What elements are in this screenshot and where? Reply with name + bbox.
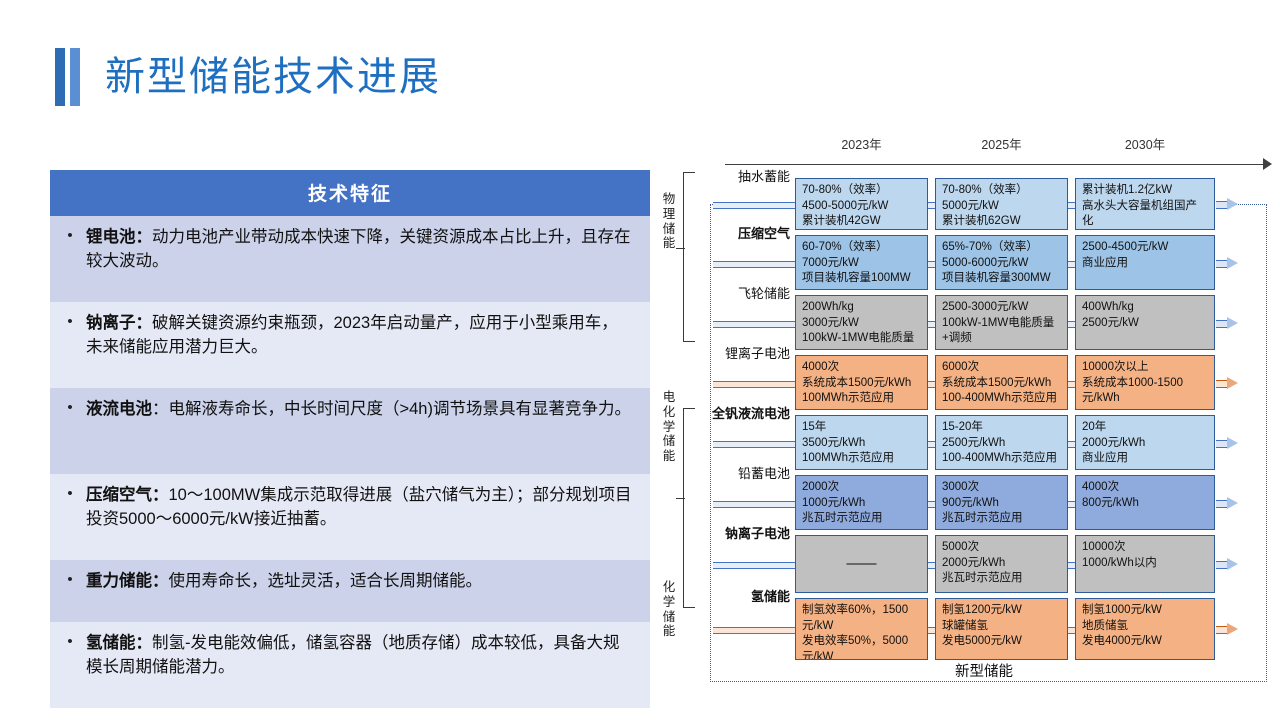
feature-item-text: 氢储能：制氢-发电能效偏低，储氢容器（地质存储）成本较低，具备大规模长周期储能潜… <box>80 631 634 699</box>
year-label: 2030年 <box>1075 134 1215 153</box>
feature-item-term: 压缩空气： <box>86 486 169 504</box>
cell-line: 球罐储氢 <box>942 619 1061 635</box>
cell-line: 10000次以上 <box>1082 360 1208 376</box>
cell-line: 60-70%（效率） <box>802 240 921 256</box>
feature-item-desc: 制氢-发电能效偏低，储氢容器（地质存储）成本较低，具备大规模长周期储能潜力。 <box>86 634 620 676</box>
row-connector <box>928 441 935 448</box>
feature-item-desc: 动力电池产业带动成本快速下降，关键资源成本占比上升，且存在较大波动。 <box>86 228 631 270</box>
cell-line: 3500元/kWh <box>802 436 921 452</box>
cell-line: 兆瓦时示范应用 <box>802 511 921 527</box>
roadmap-diagram: 新型储能 2023年2025年2030年 物 理 储 能电 化 学 储 能化 学… <box>655 120 1275 690</box>
cell-line: 2500元/kW <box>1082 316 1208 332</box>
cell-line: 项目装机容量100MW <box>802 271 921 287</box>
bullet-icon: • <box>60 483 80 551</box>
row-end-arrow-icon <box>1216 317 1238 329</box>
slide-canvas: 新型储能技术进展 技术特征 •锂电池：动力电池产业带动成本快速下降，关键资源成本… <box>0 0 1280 720</box>
cell-line: 100kW-1MW电能质量 <box>802 331 921 347</box>
cell-line: 3000次 <box>942 480 1061 496</box>
feature-item-term: 钠离子： <box>86 314 152 332</box>
cell-line: 200Wh/kg <box>802 300 921 316</box>
roadmap-cell: —— <box>795 535 928 593</box>
roadmap-cell: 15年3500元/kWh100MWh示范应用 <box>795 415 928 470</box>
bullet-icon: • <box>60 631 80 699</box>
feature-item-text: 液流电池：电解液寿命长，中长时间尺度（>4h)调节场景具有显著竞争力。 <box>80 397 634 465</box>
row-connector <box>1068 261 1075 268</box>
row-end-arrow-icon <box>1216 198 1238 210</box>
roadmap-cell: 制氢1000元/kW地质储氢发电4000元/kW <box>1075 598 1215 660</box>
cell-line: 10000次 <box>1082 540 1208 556</box>
cell-line: 6000次 <box>942 360 1061 376</box>
year-label: 2025年 <box>935 134 1068 153</box>
feature-item-desc: 10～100MW集成示范取得进展（盐穴储气为主）；部分规划项目投资5000～60… <box>86 486 631 528</box>
roadmap-cell: 10000次1000/kWh以内 <box>1075 535 1215 593</box>
feature-item-term: 氢储能： <box>86 634 152 652</box>
group-bracket <box>683 172 695 342</box>
title-block: 新型储能技术进展 <box>55 48 441 106</box>
cell-line: 累计装机42GW <box>802 214 921 230</box>
row-label-0: 抽水蓄能 <box>685 166 790 185</box>
title-accent-bar-light <box>70 48 80 106</box>
feature-item-term: 液流电池 <box>86 400 152 418</box>
group-bracket-tick <box>676 248 685 249</box>
row-label-4: 全钒液流电池 <box>685 403 790 422</box>
year-label: 2023年 <box>795 134 928 153</box>
cell-line: 2000元/kWh <box>1082 436 1208 452</box>
roadmap-cell: 70-80%（效率）4500-5000元/kW累计装机42GW单机容量300MW <box>795 178 928 230</box>
row-connector <box>1068 562 1075 569</box>
row-connector <box>713 381 795 388</box>
roadmap-cell: 6000次系统成本1500元/kWh100-400MWh示范应用 <box>935 355 1068 410</box>
cell-line: 400Wh/kg <box>1082 300 1208 316</box>
cell-line: 2000元/kWh <box>942 556 1061 572</box>
feature-item-term: 重力储能： <box>86 572 169 590</box>
row-end-arrow-icon <box>1216 437 1238 449</box>
row-connector <box>713 441 795 448</box>
page-title: 新型储能技术进展 <box>105 57 441 97</box>
roadmap-cell: 3000次900元/kWh兆瓦时示范应用 <box>935 475 1068 530</box>
roadmap-cell: 20年2000元/kWh商业应用 <box>1075 415 1215 470</box>
cell-line: 发电5000元/kW <box>942 634 1061 650</box>
feature-panel: 技术特征 •锂电池：动力电池产业带动成本快速下降，关键资源成本占比上升，且存在较… <box>50 170 650 708</box>
row-label-6: 钠离子电池 <box>685 523 790 542</box>
row-end-arrow-icon <box>1216 558 1238 570</box>
feature-item: •氢储能：制氢-发电能效偏低，储氢容器（地质存储）成本较低，具备大规模长周期储能… <box>50 622 650 708</box>
feature-item-text: 锂电池：动力电池产业带动成本快速下降，关键资源成本占比上升，且存在较大波动。 <box>80 225 634 293</box>
row-connector <box>713 261 795 268</box>
roadmap-cell: 制氢1200元/kW球罐储氢发电5000元/kW <box>935 598 1068 660</box>
roadmap-cell: 70-80%（效率）5000元/kW累计装机62GW单机400-500MW国产化 <box>935 178 1068 230</box>
row-connector <box>713 501 795 508</box>
feature-item-text: 重力储能：使用寿命长，选址灵活，适合长周期储能。 <box>80 569 634 613</box>
cell-line: 发电效率50%，5000元/kW <box>802 634 921 660</box>
feature-item-desc: ：电解液寿命长，中长时间尺度（>4h)调节场景具有显著竞争力。 <box>152 400 631 418</box>
bullet-icon: • <box>60 225 80 293</box>
bullet-icon: • <box>60 397 80 465</box>
row-connector <box>1068 627 1075 634</box>
cell-line: 兆瓦时示范应用 <box>942 571 1061 587</box>
row-connector <box>713 562 795 569</box>
diagram-caption: 新型储能 <box>955 660 1013 681</box>
cell-line: 发电4000元/kW <box>1082 634 1208 650</box>
cell-line: 1000元/kWh <box>802 496 921 512</box>
cell-line: 2000次 <box>802 480 921 496</box>
feature-item-desc: 破解关键资源约束瓶颈，2023年启动量产，应用于小型乘用车，未来储能应用潜力巨大… <box>86 314 618 356</box>
cell-line: 100MWh示范应用 <box>802 391 921 407</box>
cell-line: 制氢1200元/kW <box>942 603 1061 619</box>
cell-line: 高水头大容量机组国产化 <box>1082 199 1208 230</box>
row-connector <box>1068 202 1075 209</box>
roadmap-cell: 4000次系统成本1500元/kWh100MWh示范应用 <box>795 355 928 410</box>
row-connector <box>928 321 935 328</box>
row-label-2: 飞轮储能 <box>685 283 790 302</box>
cell-line: 系统成本1000-1500元/kWh <box>1082 376 1208 407</box>
cell-line: 商业应用 <box>1082 256 1208 272</box>
row-connector <box>1068 441 1075 448</box>
roadmap-cell: 400Wh/kg2500元/kW <box>1075 295 1215 350</box>
cell-line: 100-400MWh示范应用 <box>942 391 1061 407</box>
cell-line: 15年 <box>802 420 921 436</box>
roadmap-cell: 5000次2000元/kWh兆瓦时示范应用 <box>935 535 1068 593</box>
row-label-7: 氢储能 <box>685 586 790 605</box>
title-accent-bar-dark <box>55 48 65 106</box>
row-connector <box>928 202 935 209</box>
cell-line: 5000-6000元/kW <box>942 256 1061 272</box>
roadmap-cell: 2500-4500元/kW商业应用 <box>1075 235 1215 290</box>
roadmap-cell: 60-70%（效率）7000元/kW项目装机容量100MW <box>795 235 928 290</box>
roadmap-cell: 制氢效率60%，1500元/kW发电效率50%，5000元/kW <box>795 598 928 660</box>
cell-line: 2500-4500元/kW <box>1082 240 1208 256</box>
cell-line: 100-400MWh示范应用 <box>942 451 1061 467</box>
cell-line: 4000次 <box>1082 480 1208 496</box>
feature-item: •钠离子：破解关键资源约束瓶颈，2023年启动量产，应用于小型乘用车，未来储能应… <box>50 302 650 388</box>
cell-line: 商业应用 <box>1082 451 1208 467</box>
feature-item-term: 锂电池： <box>86 228 152 246</box>
roadmap-cell: 累计装机1.2亿kW高水头大容量机组国产化 <box>1075 178 1215 230</box>
cell-line: 800元/kWh <box>1082 496 1208 512</box>
row-connector <box>713 202 795 209</box>
row-connector <box>928 627 935 634</box>
cell-line: 2500元/kWh <box>942 436 1061 452</box>
roadmap-cell: 200Wh/kg3000元/kW100kW-1MW电能质量 <box>795 295 928 350</box>
cell-line: 制氢1000元/kW <box>1082 603 1208 619</box>
feature-item-text: 钠离子：破解关键资源约束瓶颈，2023年启动量产，应用于小型乘用车，未来储能应用… <box>80 311 634 379</box>
cell-line: 7000元/kW <box>802 256 921 272</box>
row-connector <box>928 562 935 569</box>
cell-line: 900元/kWh <box>942 496 1061 512</box>
row-connector <box>928 261 935 268</box>
cell-line: 4000次 <box>802 360 921 376</box>
feature-item: •锂电池：动力电池产业带动成本快速下降，关键资源成本占比上升，且存在较大波动。 <box>50 216 650 302</box>
feature-item: •重力储能：使用寿命长，选址灵活，适合长周期储能。 <box>50 560 650 622</box>
cell-line: 兆瓦时示范应用 <box>942 511 1061 527</box>
bullet-icon: • <box>60 311 80 379</box>
cell-line: 5000元/kW <box>942 199 1061 215</box>
cell-line: 地质储氢 <box>1082 619 1208 635</box>
roadmap-cell: 65%-70%（效率）5000-6000元/kW项目装机容量300MW <box>935 235 1068 290</box>
group-bracket <box>683 408 695 608</box>
cell-line: 65%-70%（效率） <box>942 240 1061 256</box>
group-label: 物 理 储 能 <box>661 192 677 251</box>
cell-line: 项目装机容量300MW <box>942 271 1061 287</box>
row-connector <box>1068 381 1075 388</box>
feature-item-desc: 使用寿命长，选址灵活，适合长周期储能。 <box>169 572 483 590</box>
cell-line: 70-80%（效率） <box>942 183 1061 199</box>
cell-line: 100MWh示范应用 <box>802 451 921 467</box>
row-end-arrow-icon <box>1216 257 1238 269</box>
row-end-arrow-icon <box>1216 377 1238 389</box>
group-bracket-tick <box>676 498 685 499</box>
roadmap-cell: 2000次1000元/kWh兆瓦时示范应用 <box>795 475 928 530</box>
cell-line: 3000元/kW <box>802 316 921 332</box>
cell-line: 100kW-1MW电能质量+调频 <box>942 316 1061 347</box>
row-end-arrow-icon <box>1216 623 1238 635</box>
group-label: 化 学 储 能 <box>661 580 677 639</box>
cell-line: 累计装机1.2亿kW <box>1082 183 1208 199</box>
feature-item: •液流电池：电解液寿命长，中长时间尺度（>4h)调节场景具有显著竞争力。 <box>50 388 650 474</box>
row-connector <box>1068 321 1075 328</box>
cell-line: 制氢效率60%，1500元/kW <box>802 603 921 634</box>
row-connector <box>1068 501 1075 508</box>
roadmap-cell: 15-20年2500元/kWh100-400MWh示范应用 <box>935 415 1068 470</box>
row-label-1: 压缩空气 <box>685 223 790 242</box>
cell-line: 累计装机62GW <box>942 214 1061 230</box>
cell-line: —— <box>847 554 877 574</box>
feature-list: •锂电池：动力电池产业带动成本快速下降，关键资源成本占比上升，且存在较大波动。•… <box>50 216 650 708</box>
roadmap-cell: 4000次800元/kWh <box>1075 475 1215 530</box>
cell-line: 5000次 <box>942 540 1061 556</box>
cell-line: 2500-3000元/kW <box>942 300 1061 316</box>
cell-line: 4500-5000元/kW <box>802 199 921 215</box>
cell-line: 系统成本1500元/kWh <box>942 376 1061 392</box>
row-end-arrow-icon <box>1216 497 1238 509</box>
feature-panel-header: 技术特征 <box>50 170 650 216</box>
cell-line: 1000/kWh以内 <box>1082 556 1208 572</box>
cell-line: 系统成本1500元/kWh <box>802 376 921 392</box>
row-connector <box>713 627 795 634</box>
timeline-axis <box>725 164 1265 165</box>
cell-line: 15-20年 <box>942 420 1061 436</box>
row-label-5: 铅蓄电池 <box>685 463 790 482</box>
roadmap-cell: 10000次以上系统成本1000-1500元/kWh <box>1075 355 1215 410</box>
feature-item-text: 压缩空气：10～100MW集成示范取得进展（盐穴储气为主）；部分规划项目投资50… <box>80 483 634 551</box>
timeline-arrow-icon <box>1263 158 1272 170</box>
bullet-icon: • <box>60 569 80 613</box>
row-connector <box>928 501 935 508</box>
row-label-3: 锂离子电池 <box>685 343 790 362</box>
row-connector <box>928 381 935 388</box>
cell-line: 20年 <box>1082 420 1208 436</box>
cell-line: 70-80%（效率） <box>802 183 921 199</box>
feature-item: •压缩空气：10～100MW集成示范取得进展（盐穴储气为主）；部分规划项目投资5… <box>50 474 650 560</box>
roadmap-cell: 2500-3000元/kW100kW-1MW电能质量+调频 <box>935 295 1068 350</box>
group-label: 电 化 学 储 能 <box>661 390 677 464</box>
row-connector <box>713 321 795 328</box>
